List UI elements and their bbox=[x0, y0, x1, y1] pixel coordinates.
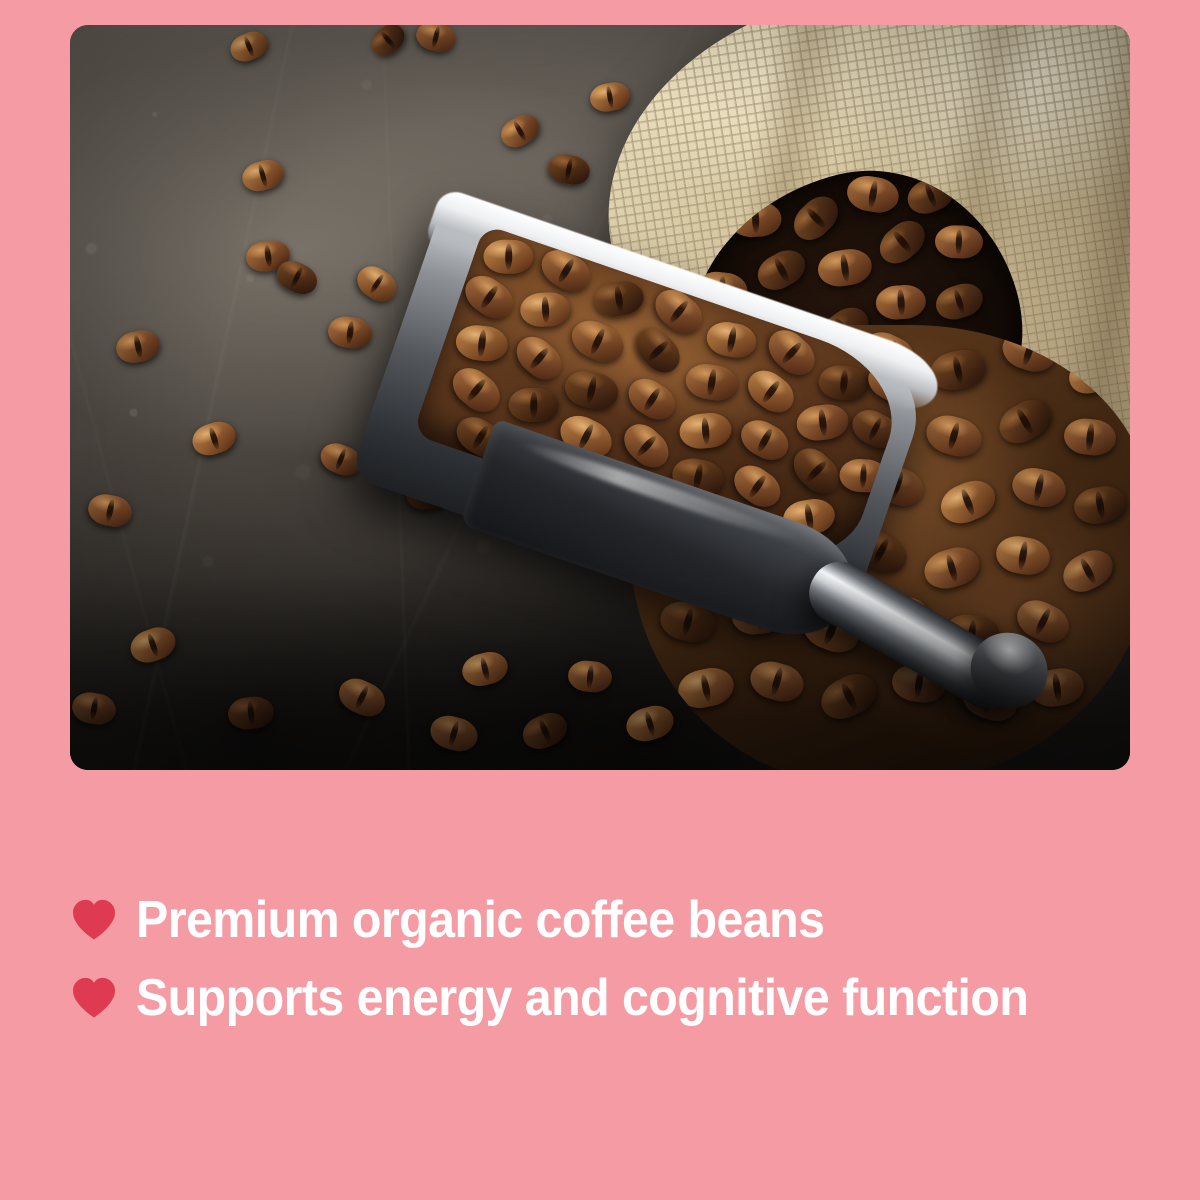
coffee-bean bbox=[226, 27, 271, 66]
coffee-bean bbox=[188, 417, 239, 460]
coffee-bean bbox=[459, 648, 511, 690]
coffee-bean bbox=[795, 402, 851, 443]
coffee-bean bbox=[239, 156, 287, 195]
coffee-bean bbox=[786, 189, 846, 248]
coffee-bean bbox=[561, 366, 622, 413]
coffee-bean bbox=[591, 278, 646, 319]
coffee-bean bbox=[993, 533, 1053, 579]
coffee-bean bbox=[817, 364, 870, 402]
coffee-bean bbox=[483, 239, 534, 274]
coffee-bean bbox=[517, 707, 572, 755]
coffee-bean bbox=[920, 542, 984, 594]
coffee-bean bbox=[844, 173, 901, 216]
coffee-bean bbox=[1009, 464, 1070, 511]
coffee-bean bbox=[566, 314, 630, 369]
coffee-bean bbox=[333, 672, 391, 723]
coffee-bean bbox=[1071, 483, 1128, 527]
coffee-bean bbox=[85, 491, 134, 530]
coffee-bean bbox=[872, 213, 932, 271]
coffee-bean bbox=[326, 314, 374, 351]
coffee-bean bbox=[508, 387, 559, 422]
coffee-bean bbox=[351, 260, 403, 308]
coffee-bean bbox=[426, 711, 481, 756]
coffee-bean bbox=[683, 361, 740, 404]
coffee-bean bbox=[113, 327, 162, 366]
coffee-bean bbox=[226, 695, 275, 732]
coffee-bean bbox=[588, 80, 632, 115]
coffee-bean bbox=[1057, 543, 1120, 599]
coffee-bean bbox=[735, 413, 795, 467]
benefit-item-1: Premium organic coffee beans bbox=[70, 893, 1140, 947]
coffee-bean bbox=[622, 701, 677, 746]
heart-icon bbox=[70, 896, 118, 944]
coffee-bean bbox=[509, 329, 569, 387]
product-image-card bbox=[70, 25, 1130, 770]
coffee-bean bbox=[545, 151, 592, 188]
coffee-bean bbox=[875, 284, 927, 321]
coffee-bean bbox=[496, 109, 545, 153]
coffee-bean bbox=[445, 360, 507, 420]
benefit-label: Premium organic coffee beans bbox=[136, 893, 825, 947]
coffee-bean bbox=[454, 323, 510, 364]
coffee-bean bbox=[935, 474, 1001, 530]
coffee-bean bbox=[413, 25, 459, 55]
coffee-bean bbox=[934, 225, 983, 260]
coffee-bean bbox=[704, 318, 760, 361]
coffee-bean bbox=[458, 268, 521, 326]
coffee-bean bbox=[992, 392, 1057, 451]
benefits-list: Premium organic coffee beans Supports en… bbox=[70, 893, 1140, 1025]
coffee-bean bbox=[729, 201, 782, 238]
coffee-bean bbox=[567, 659, 614, 694]
coffee-bean bbox=[1062, 416, 1117, 457]
coffee-bean bbox=[126, 622, 180, 668]
coffee-bean bbox=[816, 246, 874, 289]
coffee-bean bbox=[519, 291, 571, 328]
coffee-bean bbox=[366, 25, 410, 62]
coffee-bean bbox=[932, 278, 988, 324]
coffee-bean bbox=[751, 243, 811, 296]
heart-icon bbox=[70, 974, 118, 1022]
coffee-bean bbox=[622, 371, 682, 427]
benefit-item-2: Supports energy and cognitive function bbox=[70, 971, 1140, 1025]
coffee-bean bbox=[786, 440, 848, 502]
coffee-bean bbox=[70, 689, 118, 727]
benefit-label: Supports energy and cognitive function bbox=[136, 971, 1028, 1025]
coffee-bean bbox=[678, 411, 733, 450]
